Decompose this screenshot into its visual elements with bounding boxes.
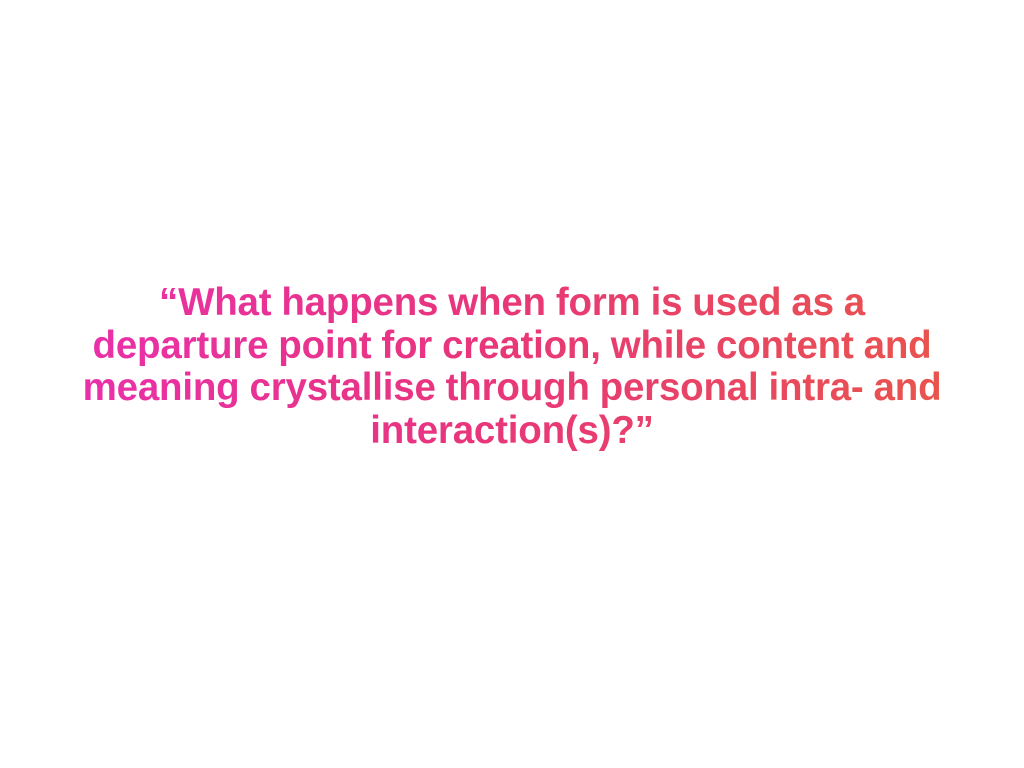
quote-block: “What happens when form is used as a dep… — [62, 282, 962, 452]
quote-text: “What happens when form is used as a dep… — [62, 282, 962, 452]
slide-canvas: “What happens when form is used as a dep… — [0, 0, 1024, 768]
